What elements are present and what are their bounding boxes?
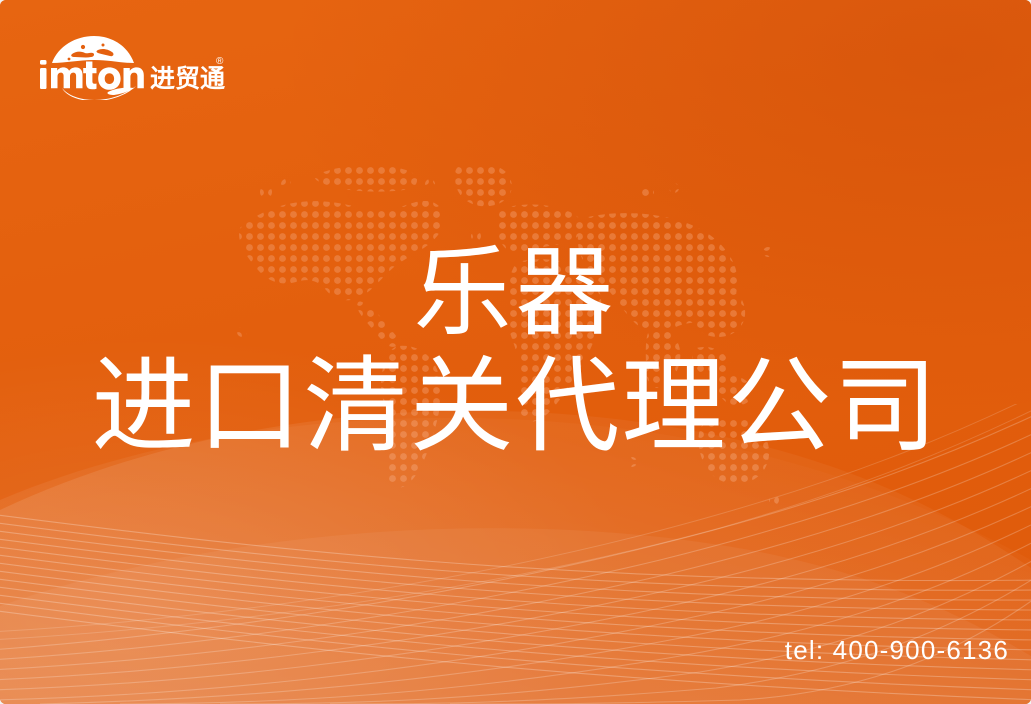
headline-line-1: 乐器 xyxy=(0,236,1031,348)
headline-block: 乐器 进口清关代理公司 xyxy=(0,236,1031,466)
trademark-icon: ® xyxy=(216,56,224,67)
swoosh-icon xyxy=(62,86,136,100)
telephone-label[interactable]: tel: 400-900-6136 xyxy=(785,635,1009,666)
headline-line-2: 进口清关代理公司 xyxy=(0,348,1031,466)
brand-logo[interactable]: 进贸通 ® xyxy=(36,30,236,100)
promo-banner: 进贸通 ® 乐器 进口清关代理公司 tel: 400-900-6136 xyxy=(0,0,1031,704)
wordmark-chinese: 进贸通 xyxy=(150,64,225,93)
wordmark-latin xyxy=(40,60,144,90)
globe-arc-icon xyxy=(52,36,134,63)
